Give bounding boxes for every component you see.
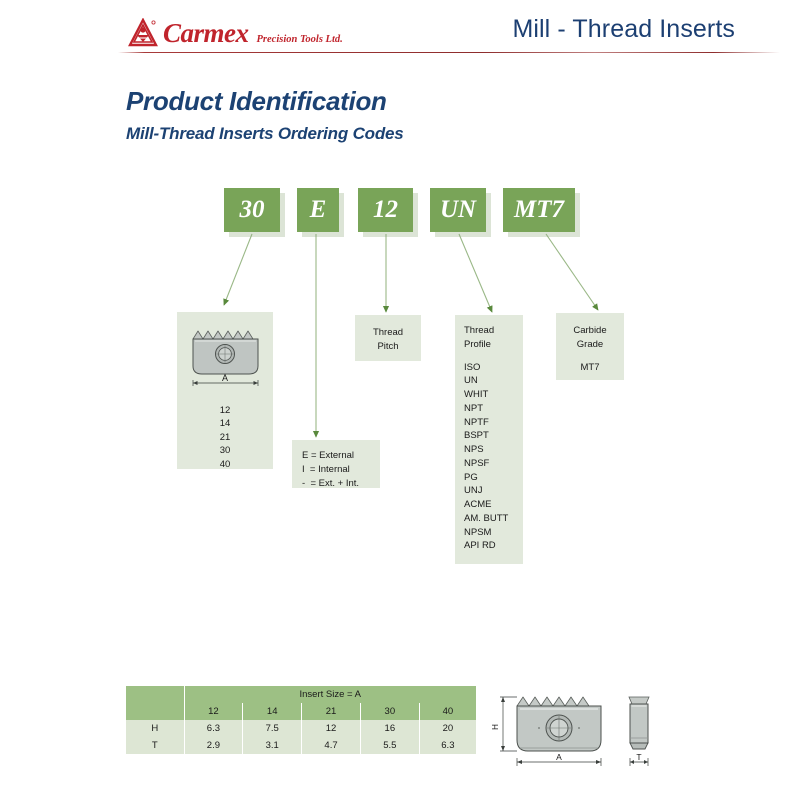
front-view-width-label: A [556,752,562,762]
code-box-pitch[interactable]: 12 [358,188,413,232]
thread-profile-item: NPSF [464,457,523,471]
side-view-drawing: T [629,697,649,766]
page-header: Carmex Precision Tools Ltd. Mill - Threa… [0,0,789,58]
insert-size-item: 12 [177,404,273,417]
carbide-grade-label-line1: Carbide [556,324,624,338]
thread-profile-label-line1: Thread [464,324,523,338]
header-divider [118,52,780,53]
table-cell: 6.3 [419,737,476,754]
brand-logo: Carmex Precision Tools Ltd. [128,18,343,48]
carbide-grade-label-line2: Grade [556,338,624,352]
type-item: I = Internal [302,463,380,477]
table-col-header: 40 [419,703,476,720]
table-cell: 20 [419,720,476,737]
spacer [464,352,523,361]
connector-arrows [0,0,789,789]
desc-box-carbide-grade: Carbide Grade MT7 [556,313,624,380]
insert-size-item: 14 [177,417,273,430]
table-cell: 12 [302,720,361,737]
insert-size-list: 12 14 21 30 40 [177,404,273,471]
thread-profile-item: API RD [464,539,523,553]
insert-size-item: 30 [177,444,273,457]
connector-size [224,234,252,305]
table-cell: 4.7 [302,737,361,754]
table-col-header: 21 [302,703,361,720]
type-item: E = External [302,449,380,463]
table-cell: 2.9 [184,737,243,754]
table-corner-cell-2 [126,703,184,720]
insert-size-item: 21 [177,431,273,444]
section-title: Product Identification [126,86,387,117]
table-column-header-row: 12 14 21 30 40 [126,703,476,720]
table-row: T 2.9 3.1 4.7 5.5 6.3 [126,737,476,754]
page-title-header: Mill - Thread Inserts [512,15,735,44]
table-row-label: T [126,737,184,754]
thread-profile-item: NPS [464,443,523,457]
thread-profile-item: WHIT [464,388,523,402]
thread-profile-label-line2: Profile [464,338,523,352]
table-col-header: 14 [243,703,302,720]
insert-technical-drawings: H A T [487,688,667,770]
table-col-header: 12 [184,703,243,720]
table-cell: 7.5 [243,720,302,737]
brand-tagline: Precision Tools Ltd. [257,34,343,48]
svg-text:A: A [222,373,228,383]
table-cell: 6.3 [184,720,243,737]
table-col-header: 30 [360,703,419,720]
table-row-label: H [126,720,184,737]
table-cell: 3.1 [243,737,302,754]
type-item: - = Ext. + Int. [302,477,380,491]
code-box-insert-size[interactable]: 30 [224,188,280,232]
carbide-grade-value: MT7 [556,361,624,375]
table-corner-cell [126,686,184,703]
brand-name: Carmex [163,20,249,47]
thread-pitch-label-line2: Pitch [355,340,421,354]
table-span-header: Insert Size = A [184,686,476,703]
thread-profile-item: NPT [464,402,523,416]
desc-box-thread-profile: Thread Profile ISO UN WHIT NPT NPTF BSPT… [455,315,523,564]
thread-profile-item: UN [464,374,523,388]
desc-box-type: E = External I = Internal - = Ext. + Int… [292,440,380,488]
table-row: H 6.3 7.5 12 16 20 [126,720,476,737]
code-box-type[interactable]: E [297,188,339,232]
thread-profile-item: UNJ [464,484,523,498]
spacer [556,352,624,361]
table-cell: 16 [360,720,419,737]
thread-pitch-label-line1: Thread [355,326,421,340]
front-view-height-label: H [491,724,500,730]
connector-profile [459,234,492,312]
desc-box-insert-size: A 12 14 21 30 40 [177,312,273,469]
thread-profile-item: AM. BUTT [464,512,523,526]
insert-size-diagram-icon: A [177,319,273,399]
table-header-row: Insert Size = A [126,686,476,703]
carmex-triangle-logo-icon [128,18,158,48]
code-box-profile[interactable]: UN [430,188,486,232]
insert-dimensions-table: Insert Size = A 12 14 21 30 40 H 6.3 7.5… [126,686,476,754]
thread-profile-item: NPTF [464,416,523,430]
connector-grade [546,234,598,310]
thread-profile-item: PG [464,471,523,485]
section-subtitle: Mill-Thread Inserts Ordering Codes [126,124,404,144]
insert-size-item: 40 [177,458,273,471]
code-box-grade[interactable]: MT7 [503,188,575,232]
thread-profile-item: NPSM [464,526,523,540]
side-view-thickness-label: T [636,752,641,762]
desc-box-thread-pitch: Thread Pitch [355,315,421,361]
thread-profile-item: BSPT [464,429,523,443]
table-cell: 5.5 [360,737,419,754]
thread-profile-item: ACME [464,498,523,512]
front-view-drawing: H A [491,697,601,766]
thread-profile-item: ISO [464,361,523,375]
